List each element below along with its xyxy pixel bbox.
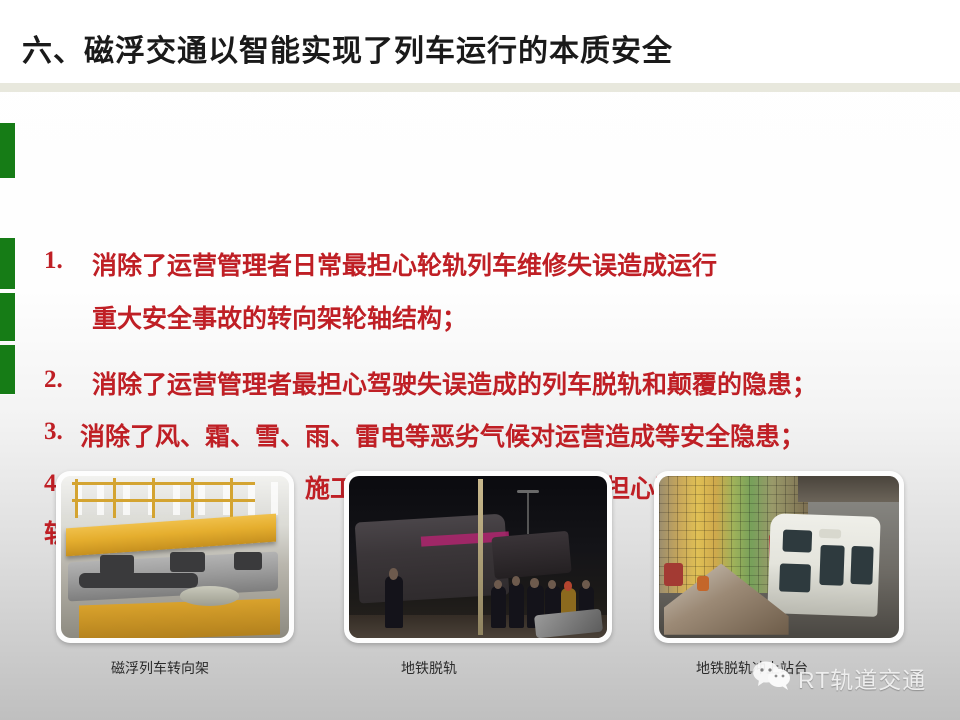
bullet-marker-4 [0, 345, 15, 394]
subway-derailment-night-photo [349, 476, 607, 638]
bullet-number-1: 1. [44, 247, 63, 275]
bullet-marker-3 [0, 293, 15, 341]
title-bar: 六、磁浮交通以智能实现了列车运行的本质安全 [0, 0, 960, 83]
photo-caption-2: 地铁脱轨 [401, 658, 457, 678]
photo-frame-platform-derailment [654, 471, 904, 643]
wechat-icon [752, 660, 792, 695]
photo-caption-1: 磁浮列车转向架 [111, 658, 209, 678]
presentation-slide: 六、磁浮交通以智能实现了列车运行的本质安全 1. 消除了运营管理者日常最担心轮轨… [0, 0, 960, 720]
photo-frame-maglev-bogie [56, 471, 294, 643]
bullet-number-3: 3. [44, 418, 63, 446]
subway-derailed-onto-platform-photo [659, 476, 899, 638]
title-divider [0, 83, 960, 92]
page-title: 六、磁浮交通以智能实现了列车运行的本质安全 [22, 26, 673, 70]
bullet-text-1-line-1: 消除了运营管理者日常最担心轮轨列车维修失误造成运行 [92, 246, 717, 282]
photo-frame-subway-derailment [344, 471, 612, 643]
watermark: RT轨道交通 [752, 660, 926, 695]
bullet-text-2-line-1: 消除了运营管理者最担心驾驶失误造成的列车脱轨和颠覆的隐患； [92, 365, 817, 401]
bullet-marker-1 [0, 123, 15, 178]
bullet-text-1-line-2: 重大安全事故的转向架轮轴结构； [92, 299, 467, 335]
bullet-marker-2 [0, 238, 15, 289]
bullet-text-3-line-1: 消除了风、霜、雪、雨、雷电等恶劣气候对运营造成等安全隐患； [80, 417, 805, 453]
maglev-train-bogie-photo [61, 476, 289, 638]
watermark-text: RT轨道交通 [798, 661, 926, 695]
bullet-number-2: 2. [44, 366, 63, 394]
